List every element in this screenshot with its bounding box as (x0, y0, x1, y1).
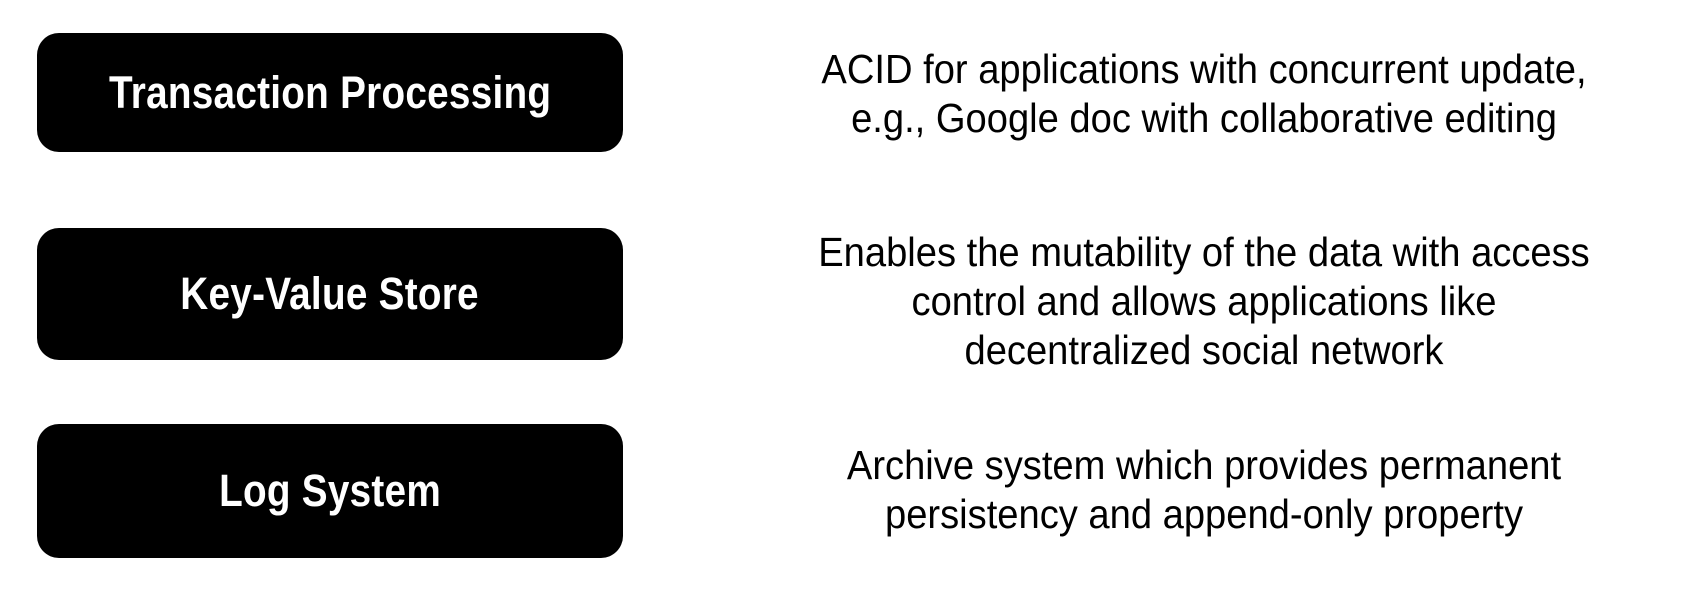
pill-label: Log System (219, 467, 441, 514)
diagram-row: Transaction Processing ACID for applicat… (0, 33, 1704, 152)
pill-label: Transaction Processing (109, 69, 551, 116)
component-pill-transaction-processing[interactable]: Transaction Processing (37, 33, 623, 152)
component-pill-key-value-store[interactable]: Key-Value Store (37, 228, 623, 360)
diagram-row: Log System Archive system which provides… (0, 424, 1704, 558)
component-description-transaction-processing: ACID for applications with concurrent up… (750, 45, 1658, 143)
slide-canvas: Transaction Processing ACID for applicat… (0, 0, 1704, 594)
diagram-row: Key-Value Store Enables the mutability o… (0, 228, 1704, 360)
pill-label: Key-Value Store (181, 270, 480, 317)
component-description-log-system: Archive system which provides permanent … (750, 441, 1658, 539)
component-pill-log-system[interactable]: Log System (37, 424, 623, 558)
component-description-key-value-store: Enables the mutability of the data with … (750, 228, 1658, 375)
